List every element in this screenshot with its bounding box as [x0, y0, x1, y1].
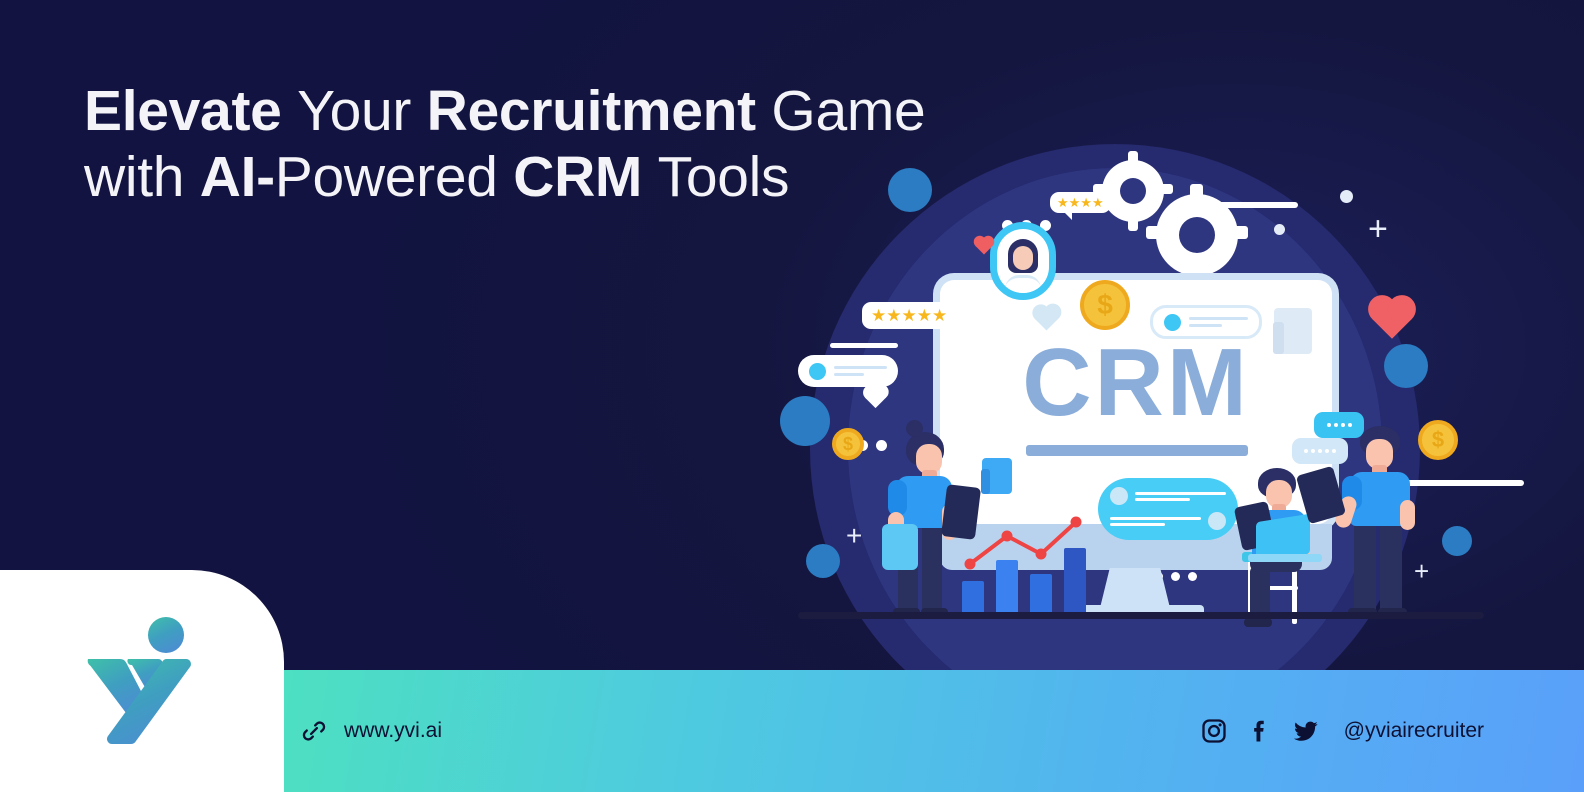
contact-avatar-icon: [1164, 314, 1181, 331]
contact-avatar-icon: [809, 363, 826, 380]
link-icon: [300, 717, 328, 745]
headline-word-powered: Powered: [275, 145, 513, 209]
headline-word-ai: AI-: [200, 145, 275, 209]
yvi-logo: [82, 615, 202, 747]
thumbs-up-icon: [982, 458, 1012, 494]
decor-circle-icon: [806, 544, 840, 578]
coin-icon: $: [1080, 280, 1130, 330]
gear-icon: [1102, 160, 1164, 222]
thumbs-up-icon: [1274, 308, 1312, 354]
chart-trend-line: [962, 514, 1086, 578]
contact-card: [798, 355, 898, 387]
decor-circle-icon: [1442, 526, 1472, 556]
chat-bubble: [1098, 478, 1238, 540]
coin-icon: $: [832, 428, 864, 460]
crm-underline: [1026, 445, 1248, 456]
headline-word-recruitment: Recruitment: [427, 79, 772, 143]
website-url: www.yvi.ai: [344, 719, 442, 743]
plus-icon: +: [1368, 212, 1388, 246]
decor-dot-icon: [1274, 224, 1285, 235]
headline-word-game: Game: [771, 79, 925, 143]
decor-circle-icon: [780, 396, 830, 446]
decor-line: [830, 343, 898, 348]
headline-word-tools: Tools: [658, 145, 790, 209]
crm-hero-illustration: + + + CRM ★★★★ ★★★★★ $ $ $: [780, 150, 1500, 640]
decor-circle-icon: [1384, 344, 1428, 388]
person-woman-with-tablet: [876, 428, 976, 618]
promo-banner: Elevate Your Recruitment Gamewith AI-Pow…: [0, 0, 1584, 792]
avatar: [990, 222, 1056, 300]
instagram-icon[interactable]: [1200, 717, 1228, 745]
headline-word-with: with: [84, 145, 200, 209]
rating-stars-five: ★★★★★: [862, 302, 956, 329]
twitter-icon[interactable]: [1292, 717, 1320, 745]
headline-word-elevate: Elevate: [84, 79, 297, 143]
headline-word-your: Your: [297, 79, 427, 143]
social-handle: @yviairecruiter: [1344, 719, 1484, 743]
decor-dot-icon: [1340, 190, 1353, 203]
decor-line: [1180, 202, 1298, 208]
ground-shadow-line: [798, 612, 1484, 619]
page-title: Elevate Your Recruitment Gamewith AI-Pow…: [84, 78, 1064, 210]
facebook-icon[interactable]: [1246, 717, 1274, 745]
social-links: @yviairecruiter: [1200, 717, 1484, 745]
website-link[interactable]: www.yvi.ai: [300, 717, 442, 745]
headline-word-crm: CRM: [513, 145, 657, 209]
person-man-with-tablet: [1332, 426, 1436, 618]
monitor-neck: [1100, 568, 1170, 608]
plus-icon: +: [846, 522, 862, 550]
contact-card: [1150, 305, 1262, 339]
logo-panel: [0, 570, 284, 792]
